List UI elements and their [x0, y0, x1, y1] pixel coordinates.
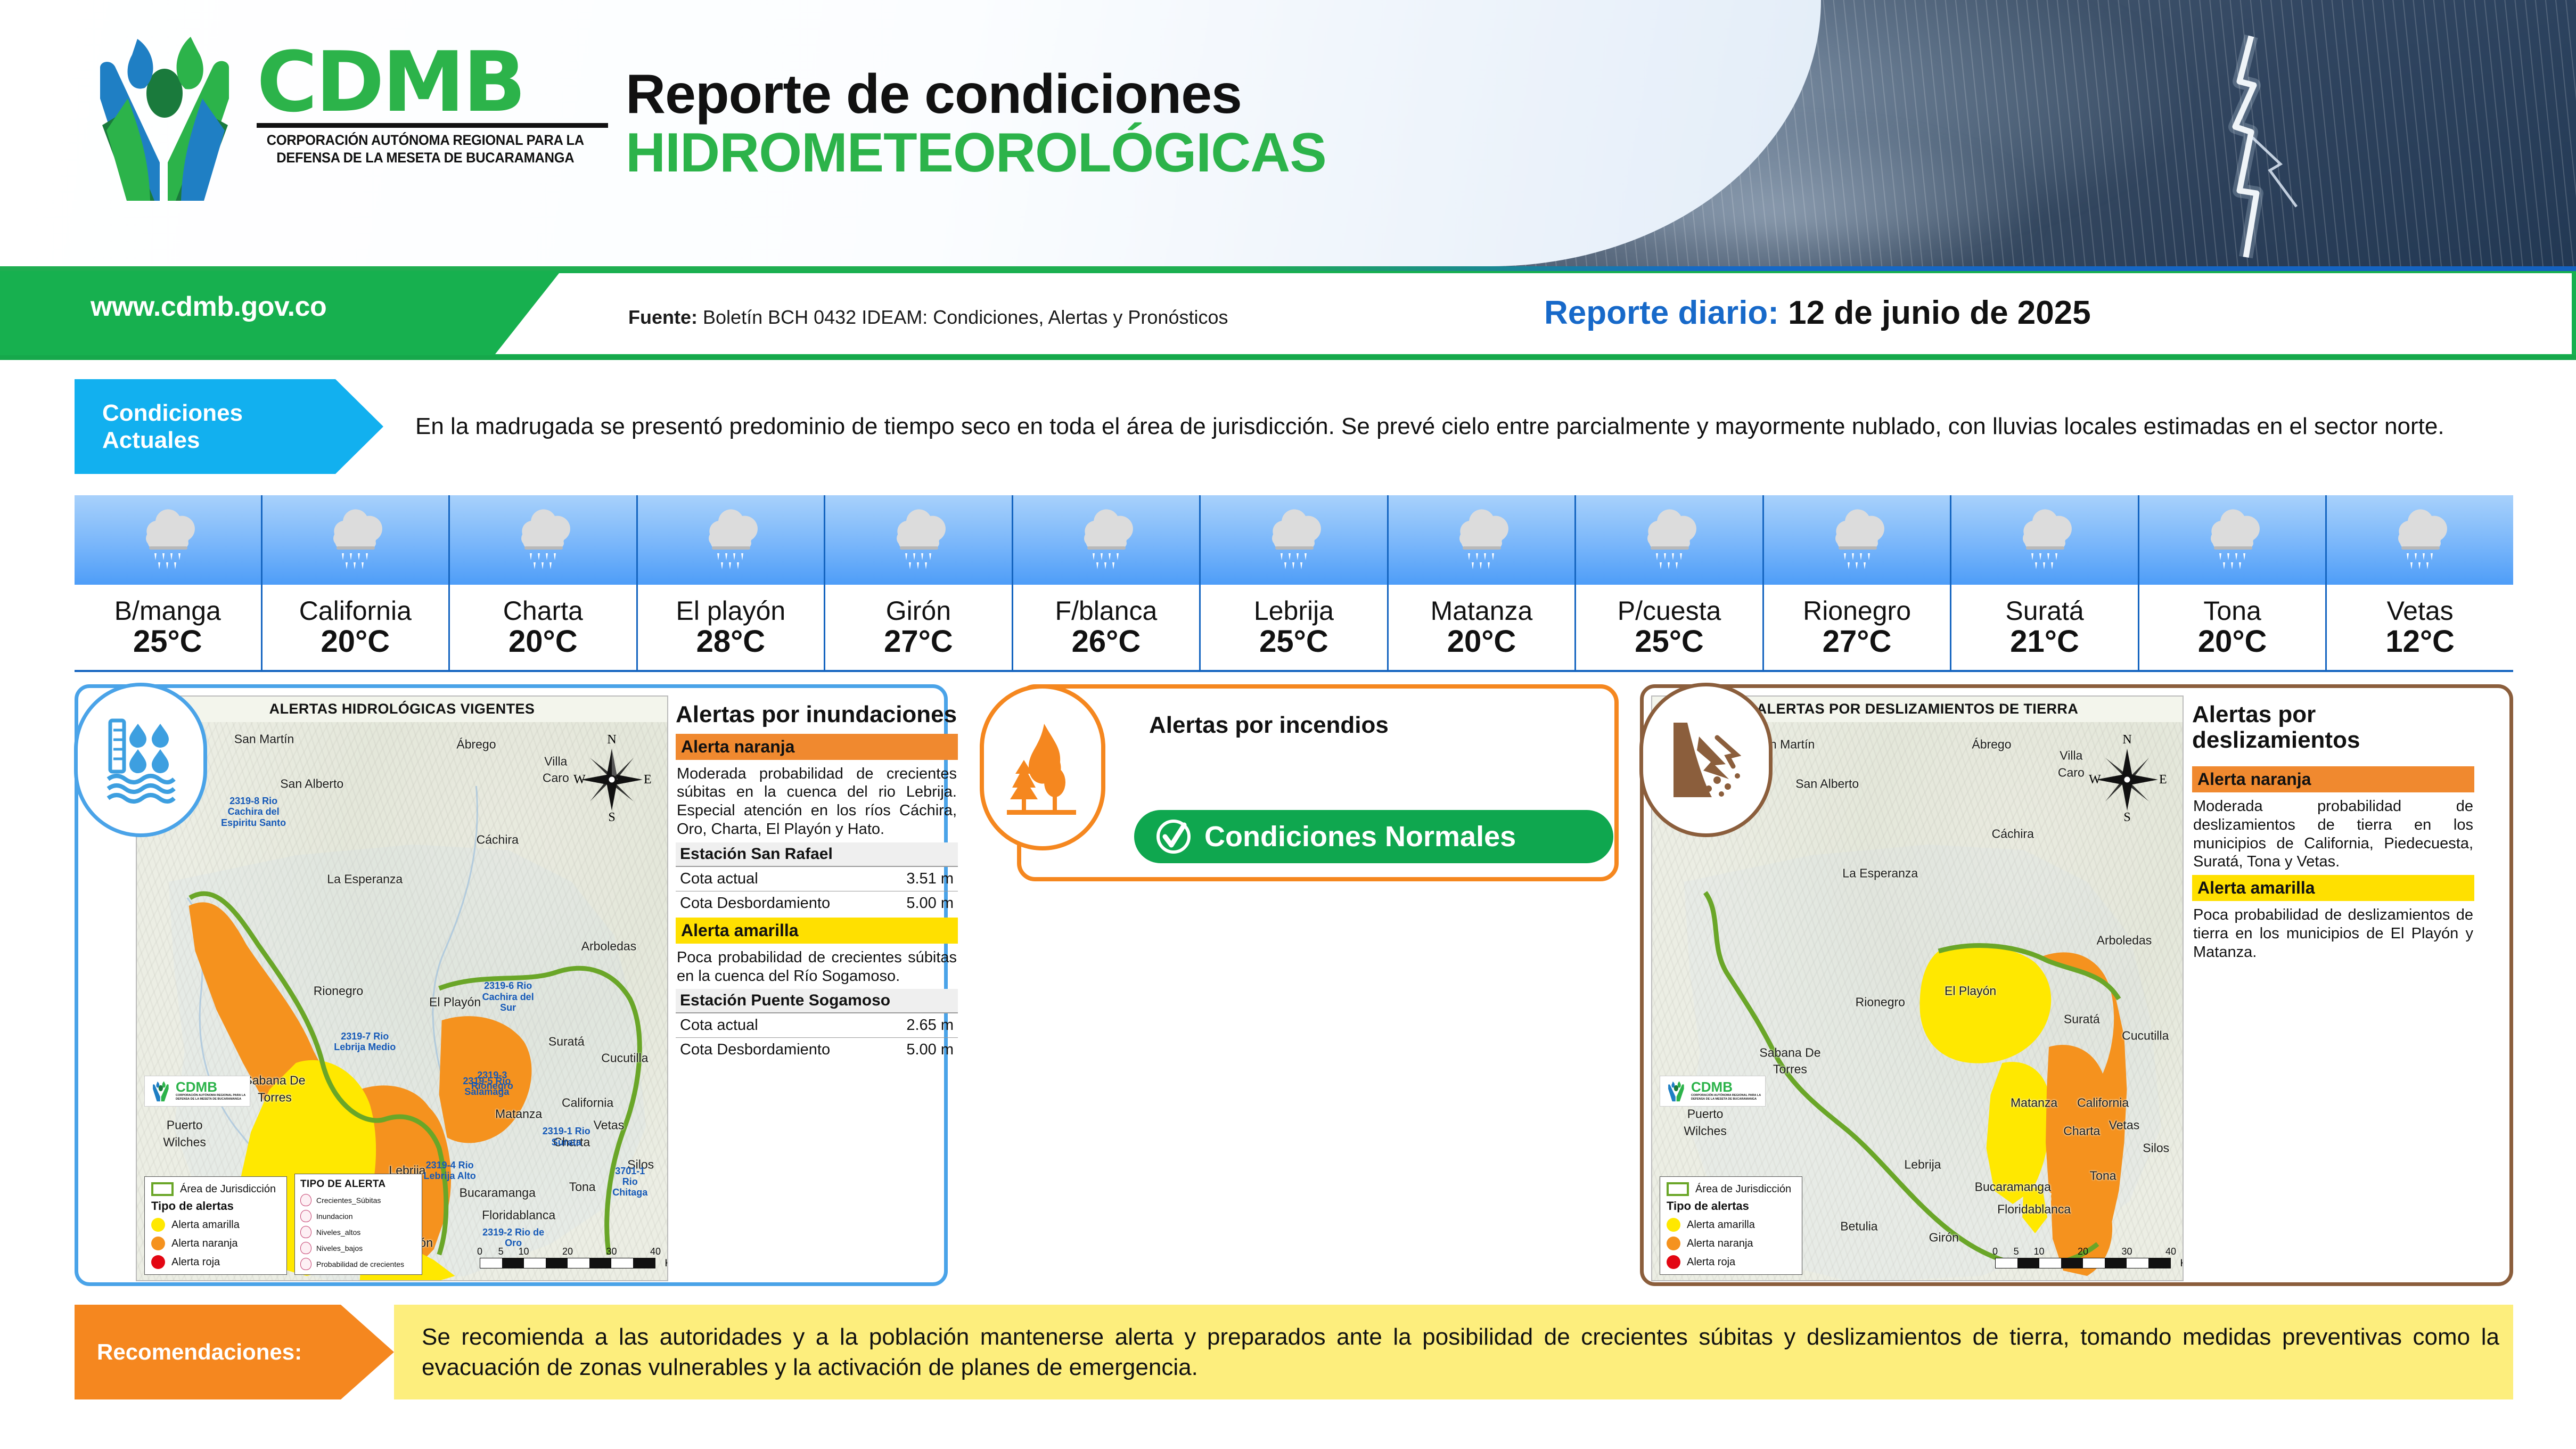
temperature-label-area: Tona20°C: [2139, 585, 2326, 671]
recommendations-tab: Recomendaciones:: [75, 1305, 394, 1399]
city-name: Tona: [2203, 597, 2261, 624]
city-name: P/cuesta: [1618, 597, 1721, 624]
map-place-label: Torres: [1773, 1062, 1807, 1077]
map-place-label: Sabana De: [1759, 1045, 1820, 1060]
map-river-label: 2319-8 Rio Cachira del Espiritu Santo: [219, 796, 288, 828]
rain-cloud-icon: [2203, 509, 2262, 571]
page-title: Reporte de condiciones HIDROMETEOROLÓGIC…: [626, 65, 1326, 182]
cdmb-acronym: CDMB: [257, 44, 608, 121]
watermark-line1: CORPORACIÓN AUTÓNOMA REGIONAL PARA LA: [1691, 1094, 1761, 1098]
temperature-cell: Girón27°C: [825, 495, 1013, 671]
flood-yellow-band: Alerta amarilla: [676, 918, 958, 944]
legend-red: Alerta roja: [1687, 1256, 1735, 1268]
map-place-label: California: [2077, 1096, 2129, 1110]
scale-tick-3: 20: [562, 1246, 573, 1257]
alert-kind-0: Crecientes_Súbitas: [316, 1196, 381, 1205]
temperature-label-area: B/manga25°C: [75, 585, 261, 671]
legend-red: Alerta roja: [171, 1256, 220, 1268]
city-name: Suratá: [2005, 597, 2083, 624]
rain-cloud-icon: [1077, 509, 1135, 571]
current-conditions-text: En la madrugada se presentó predominio d…: [415, 411, 2444, 441]
map-place-label: La Esperanza: [1842, 866, 1918, 881]
landslide-yellow-band: Alerta amarilla: [2192, 875, 2474, 901]
alert-kind-title: TIPO DE ALERTA: [300, 1178, 416, 1190]
recommendations-section: Recomendaciones: Se recomienda a las aut…: [75, 1305, 2513, 1399]
map-place-label: Girón: [1929, 1230, 1959, 1245]
temperature-label-area: P/cuesta25°C: [1576, 585, 1762, 671]
map-place-label: Ábregо: [456, 738, 496, 752]
city-temperature: 27°C: [1823, 625, 1892, 659]
temperature-cell: California20°C: [262, 495, 450, 671]
flood-station-yellow: Estación Puente Sogamoso: [676, 989, 958, 1013]
info-strip: www.cdmb.gov.co Fuente: Boletín BCH 0432…: [0, 266, 2576, 360]
map-place-label: Floridablanca: [1997, 1202, 2071, 1217]
landslide-badge: [1639, 683, 1773, 837]
temperature-label-area: Matanza20°C: [1389, 585, 1575, 671]
map-place-label: Ábregо: [1972, 738, 2011, 752]
flood-o-row0-value: 3.51 m: [874, 870, 954, 888]
city-temperature: 20°C: [508, 625, 578, 659]
alert-kind-1: Inundacion: [316, 1212, 353, 1221]
current-conditions-body: En la madrugada se presentó predominio d…: [383, 379, 2513, 474]
watermark-line1: CORPORACIÓN AUTÓNOMA REGIONAL PARA LA: [176, 1094, 245, 1098]
weather-icon-area: [75, 495, 261, 585]
map-place-label: Wilches: [1684, 1124, 1727, 1138]
jurisdiction-label: Área de Jurisdicción: [180, 1183, 276, 1196]
city-name: Rionegro: [1803, 597, 1911, 624]
weather-icon-area: [2327, 495, 2513, 585]
scale-tick-4: 30: [606, 1246, 617, 1257]
map-place-label: Bucaramanga: [1975, 1180, 2051, 1194]
rain-cloud-icon: [326, 509, 384, 571]
logo-subtitle-line1: CORPORACIÓN AUTÓNOMA REGIONAL PARA LA: [257, 132, 594, 150]
weather-icon-area: [638, 495, 824, 585]
report-date-block: Reporte diario: 12 de junio de 2025: [1544, 294, 2091, 332]
svg-text:S: S: [608, 811, 615, 823]
flood-text-column: Alertas por inundaciones Alerta naranja …: [676, 702, 958, 1062]
current-conditions-tab-line2: Actuales: [102, 427, 383, 454]
current-conditions-section: Condiciones Actuales En la madrugada se …: [75, 379, 2513, 474]
map-place-label: Vetas: [2109, 1118, 2140, 1133]
weather-icon-area: [1201, 495, 1387, 585]
logo-subtitle-line2: DEFENSA DE LA MESETA DE BUCARAMANGA: [257, 149, 594, 167]
city-temperature: 27°C: [884, 625, 953, 659]
flood-station-orange: Estación San Rafael: [676, 842, 958, 867]
temperature-cell: B/manga25°C: [75, 495, 262, 671]
map-place-label: El Playón: [1945, 984, 1996, 998]
map-river-label: 2319-7 Rio Lebrija Medio: [330, 1030, 399, 1052]
flood-alerts-card: ALERTAS HIDROLÓGICAS VIGENTES: [75, 684, 948, 1286]
flood-map-title: ALERTAS HIDROLÓGICAS VIGENTES: [137, 701, 667, 717]
rain-cloud-icon: [2015, 509, 2074, 571]
map-place-label: Villa: [2060, 749, 2082, 763]
page-title-line2: HIDROMETEOROLÓGICAS: [626, 124, 1326, 182]
page-header: CDMB CORPORACIÓN AUTÓNOMA REGIONAL PARA …: [0, 0, 2576, 266]
temperature-cell: F/blanca26°C: [1013, 495, 1201, 671]
temperature-cell: Lebrija25°C: [1201, 495, 1389, 671]
map-place-label: Cáchira: [1992, 827, 2034, 841]
temperature-label-area: Girón27°C: [825, 585, 1012, 671]
landslide-heading: Alertas por deslizamientos: [2192, 702, 2474, 752]
rain-cloud-icon: [1265, 509, 1323, 571]
map-place-label: Silos: [2143, 1141, 2169, 1155]
alert-kind-3: Niveles_bajos: [316, 1244, 363, 1252]
map-place-label: Caro: [2058, 765, 2085, 780]
jurisdiction-swatch: [151, 1182, 174, 1196]
temperature-cell: Suratá21°C: [1951, 495, 2139, 671]
report-label: Reporte diario:: [1544, 294, 1779, 331]
map-place-label: Arboledas: [2097, 934, 2152, 948]
city-temperature: 25°C: [1635, 625, 1704, 659]
city-name: El playón: [676, 597, 786, 624]
recommendations-text: Se recomienda a las autoridades y a la p…: [422, 1322, 2499, 1382]
svg-text:E: E: [644, 773, 652, 787]
report-page: CDMB CORPORACIÓN AUTÓNOMA REGIONAL PARA …: [0, 0, 2576, 1449]
legend-yellow: Alerta amarilla: [171, 1219, 240, 1231]
temperature-cell: Charta20°C: [450, 495, 638, 671]
alert-kind-2: Niveles_altos: [316, 1228, 360, 1237]
weather-icon-area: [262, 495, 449, 585]
flood-y-row1-label: Cota Desbordamiento: [680, 1041, 830, 1059]
cdmb-logo: CDMB CORPORACIÓN AUTÓNOMA REGIONAL PARA …: [69, 29, 612, 205]
scale-unit: Km: [2180, 1258, 2183, 1270]
rain-cloud-icon: [1452, 509, 1511, 571]
forest-fire-icon: [1003, 718, 1082, 817]
city-name: Lebrija: [1254, 597, 1334, 624]
rain-cloud-icon: [889, 509, 948, 571]
flood-o-row1-label: Cota Desbordamiento: [680, 895, 830, 912]
city-temperature: 26°C: [1072, 625, 1141, 659]
map-river-label: 2319-2 Rio de Oro: [479, 1227, 548, 1248]
map-place-label: Caro: [543, 771, 569, 785]
landslide-icon: [1666, 717, 1746, 803]
water-level-gauge-badge: [74, 683, 207, 837]
legend-orange: Alerta naranja: [171, 1238, 238, 1250]
landslide-text-column: Alertas por deslizamientos Alerta naranj…: [2192, 702, 2474, 965]
rain-cloud-icon: [138, 509, 197, 571]
weather-icon-area: [825, 495, 1012, 585]
map-place-label: Cáchira: [477, 832, 519, 847]
weather-icon-area: [1576, 495, 1762, 585]
rain-cloud-icon: [1640, 509, 1699, 571]
legend-orange: Alerta naranja: [1687, 1238, 1753, 1250]
map-river-label: 2319-4 Rio Lebrija Alto: [415, 1159, 485, 1181]
source-value: Boletín BCH 0432 IDEAM: Condiciones, Ale…: [703, 306, 1228, 328]
map-place-label: La Esperanza: [327, 872, 403, 886]
alert-kind-4: Probabilidad de crecientes: [316, 1260, 404, 1268]
map-place-label: Villa: [544, 754, 567, 768]
city-temperature: 28°C: [696, 625, 766, 659]
map-place-label: Betulia: [1840, 1219, 1877, 1233]
weather-icon-area: [1013, 495, 1200, 585]
city-temperature: 20°C: [2198, 625, 2267, 659]
flood-orange-band: Alerta naranja: [676, 734, 958, 760]
flood-o-row0-label: Cota actual: [680, 870, 758, 888]
scale-tick-5: 40: [650, 1246, 661, 1257]
fire-heading: Alertas por incendios: [1149, 712, 1389, 738]
source-label: Fuente:: [628, 306, 698, 328]
map-place-label: San Martín: [234, 732, 294, 746]
map-place-label: Suratá: [2064, 1012, 2100, 1026]
watermark-line2: DEFENSA DE LA MESETA DE BUCARAMANGA: [176, 1098, 245, 1101]
map-place-label: Arboledas: [581, 939, 637, 953]
flood-y-row1-value: 5.00 m: [874, 1041, 954, 1059]
scale-tick-4: 30: [2121, 1246, 2132, 1257]
fire-status-label: Condiciones Normales: [1204, 820, 1516, 853]
scale-tick-5: 40: [2165, 1246, 2176, 1257]
city-name: Girón: [886, 597, 951, 624]
landslide-alerts-card: ALERTAS POR DESLIZAMIENTOS DE TIERRA: [1640, 684, 2513, 1286]
legend-yellow: Alerta amarilla: [1687, 1219, 1755, 1231]
page-title-line1: Reporte de condiciones: [626, 65, 1326, 124]
flood-o-row1-value: 5.00 m: [874, 895, 954, 912]
temperature-cell: Matanza20°C: [1389, 495, 1577, 671]
recommendations-body: Se recomienda a las autoridades y a la p…: [394, 1305, 2513, 1399]
report-date: 12 de junio de 2025: [1788, 294, 2091, 331]
map-place-label: Matanza: [2011, 1096, 2057, 1110]
landslide-map-legend: Área de Jurisdicción Tipo de alertas Ale…: [1660, 1176, 1802, 1275]
map-river-label: 2319-6 Rio Cachira del Sur: [473, 980, 543, 1012]
map-place-label: Cucutilla: [2122, 1029, 2169, 1043]
recommendations-tab-label: Recomendaciones:: [97, 1339, 302, 1365]
temperature-cell: Rionegro27°C: [1764, 495, 1952, 671]
map-place-label: California: [562, 1096, 613, 1110]
map-place-label: Bucaramanga: [460, 1185, 536, 1200]
flood-y-row0-label: Cota actual: [680, 1017, 758, 1034]
scale-tick-1: 5: [2014, 1246, 2019, 1257]
flood-yellow-text: Poca probabilidad de crecientes súbitas …: [676, 944, 958, 989]
scale-tick-0: 0: [1992, 1246, 1998, 1257]
landslide-orange-text: Moderada probabilidad de deslizamientos …: [2192, 792, 2474, 875]
map-place-label: San Alberto: [1795, 776, 1859, 791]
map-place-label: Puerto: [167, 1118, 203, 1133]
temperature-cell: El playón28°C: [638, 495, 826, 671]
rain-cloud-icon: [1828, 509, 1886, 571]
flood-map-legend: Área de Jurisdicción Tipo de alertas Ale…: [144, 1176, 287, 1275]
landslide-map-cdmb-watermark: CDMB CORPORACIÓN AUTÓNOMA REGIONAL PARA …: [1660, 1076, 1766, 1107]
map-place-label: Puerto: [1687, 1107, 1724, 1121]
weather-icon-area: [2139, 495, 2326, 585]
current-conditions-tab: Condiciones Actuales: [75, 379, 383, 474]
jurisdiction-swatch: [1667, 1182, 1689, 1196]
map-place-label: Lebrija: [1904, 1158, 1941, 1172]
landslide-map-scalebar: 0 5 10 20 30 40 Km: [1995, 1246, 2171, 1268]
temperature-label-area: California20°C: [262, 585, 449, 671]
svg-text:N: N: [607, 733, 616, 747]
city-temperature: 21°C: [2010, 625, 2079, 659]
map-river-label: 2319-3 Rionegro: [457, 1070, 527, 1091]
map-place-label: Sabana De: [244, 1074, 305, 1088]
temperature-cell: Vetas12°C: [2327, 495, 2513, 671]
flood-orange-text: Moderada probabilidad de crecientes súbi…: [676, 760, 958, 842]
flood-y-row0-value: 2.65 m: [874, 1017, 954, 1034]
city-temperature: 20°C: [321, 625, 390, 659]
weather-icon-area: [450, 495, 636, 585]
landslide-yellow-text: Poca probabilidad de deslizamientos de t…: [2192, 901, 2474, 965]
website-link[interactable]: www.cdmb.gov.co: [91, 291, 495, 323]
check-circle-icon: [1154, 817, 1193, 856]
flood-map[interactable]: ALERTAS HIDROLÓGICAS VIGENTES: [136, 695, 668, 1281]
scale-tick-2: 10: [518, 1246, 529, 1257]
rain-cloud-icon: [701, 509, 760, 571]
temperature-strip: B/manga25°C California20°C Charta20°C El…: [75, 495, 2513, 671]
current-conditions-tab-line1: Condiciones: [102, 399, 383, 427]
flood-alert-kind-legend: TIPO DE ALERTA Crecientes_Súbitas Inunda…: [294, 1174, 422, 1275]
scale-unit: Km: [665, 1258, 668, 1270]
map-place-label: Rionegro: [1856, 995, 1905, 1010]
fire-alerts-card: Alertas por incendios Condiciones Normal…: [1017, 684, 1619, 881]
temperature-label-area: Suratá21°C: [1951, 585, 2138, 671]
city-temperature: 12°C: [2385, 625, 2455, 659]
cdmb-logo-mark: [69, 29, 261, 205]
city-temperature: 25°C: [1259, 625, 1328, 659]
alert-types-title: Tipo de alertas: [151, 1199, 280, 1213]
city-name: Matanza: [1431, 597, 1533, 624]
lightning-icon: [2171, 31, 2320, 260]
map-river-label: 3701-1 Rio Chitaga: [611, 1165, 649, 1197]
scale-tick-3: 20: [2078, 1246, 2088, 1257]
flood-heading: Alertas por inundaciones: [676, 702, 958, 727]
fire-status-badge: Condiciones Normales: [1134, 810, 1613, 863]
source-text: Fuente: Boletín BCH 0432 IDEAM: Condicio…: [628, 306, 1228, 329]
compass-rose-icon: N S W E: [2085, 733, 2170, 823]
landslide-orange-band: Alerta naranja: [2192, 766, 2474, 792]
map-place-label: Suratá: [548, 1034, 585, 1049]
map-place-label: Rionegro: [314, 984, 363, 998]
flood-map-canvas: San MartínÁbregоVillaCaroSan AlbertoCách…: [137, 722, 667, 1281]
city-temperature: 25°C: [133, 625, 202, 659]
svg-text:N: N: [2122, 733, 2131, 747]
svg-text:S: S: [2123, 811, 2130, 823]
map-river-label: 2319-1 Rio Surata: [532, 1126, 601, 1147]
forest-fire-badge: [980, 684, 1105, 850]
temperature-label-area: Rionegro27°C: [1764, 585, 1950, 671]
map-place-label: Tona: [569, 1180, 596, 1194]
temperature-label-area: Vetas12°C: [2327, 585, 2513, 671]
temperature-label-area: Lebrija25°C: [1201, 585, 1387, 671]
map-place-label: Torres: [258, 1090, 292, 1104]
rain-cloud-icon: [2391, 509, 2449, 571]
city-name: B/manga: [114, 597, 221, 624]
city-name: F/blanca: [1055, 597, 1158, 624]
map-place-label: Cucutilla: [601, 1051, 648, 1066]
weather-icon-area: [1764, 495, 1950, 585]
temperature-label-area: F/blanca26°C: [1013, 585, 1200, 671]
map-place-label: San Alberto: [280, 776, 343, 791]
flood-map-cdmb-watermark: CDMB CORPORACIÓN AUTÓNOMA REGIONAL PARA …: [144, 1076, 250, 1107]
scale-tick-1: 5: [498, 1246, 504, 1257]
map-place-label: Wilches: [163, 1135, 206, 1150]
scale-tick-2: 10: [2033, 1246, 2044, 1257]
rain-cloud-icon: [514, 509, 572, 571]
alert-types-title: Tipo de alertas: [1667, 1199, 1795, 1213]
water-level-gauge-icon: [101, 716, 181, 804]
city-name: California: [299, 597, 412, 624]
jurisdiction-label: Área de Jurisdicción: [1695, 1183, 1791, 1196]
strip-bottom-rule: [0, 355, 2576, 360]
city-name: Vetas: [2387, 597, 2454, 624]
watermark-line2: DEFENSA DE LA MESETA DE BUCARAMANGA: [1691, 1098, 1761, 1101]
city-temperature: 20°C: [1447, 625, 1516, 659]
temperature-strip-underline: [75, 670, 2513, 672]
map-place-label: Floridablanca: [482, 1208, 555, 1222]
svg-text:E: E: [2159, 773, 2167, 787]
weather-icon-area: [1389, 495, 1575, 585]
temperature-label-area: Charta20°C: [450, 585, 636, 671]
compass-rose-icon: N S W E: [569, 733, 654, 823]
weather-icon-area: [1951, 495, 2138, 585]
strip-top-rule: [0, 266, 2576, 271]
map-place-label: Matanza: [495, 1107, 542, 1121]
scale-tick-0: 0: [477, 1246, 482, 1257]
alert-panels: ALERTAS HIDROLÓGICAS VIGENTES: [75, 684, 2513, 1286]
temperature-cell: Tona20°C: [2139, 495, 2327, 671]
temperature-label-area: El playón28°C: [638, 585, 824, 671]
flood-map-scalebar: 0 5 10 20 30 40 Km: [480, 1246, 655, 1268]
temperature-cell: P/cuesta25°C: [1576, 495, 1764, 671]
city-name: Charta: [503, 597, 583, 624]
map-place-label: Charta: [2063, 1124, 2100, 1138]
map-place-label: Tona: [2090, 1169, 2116, 1183]
